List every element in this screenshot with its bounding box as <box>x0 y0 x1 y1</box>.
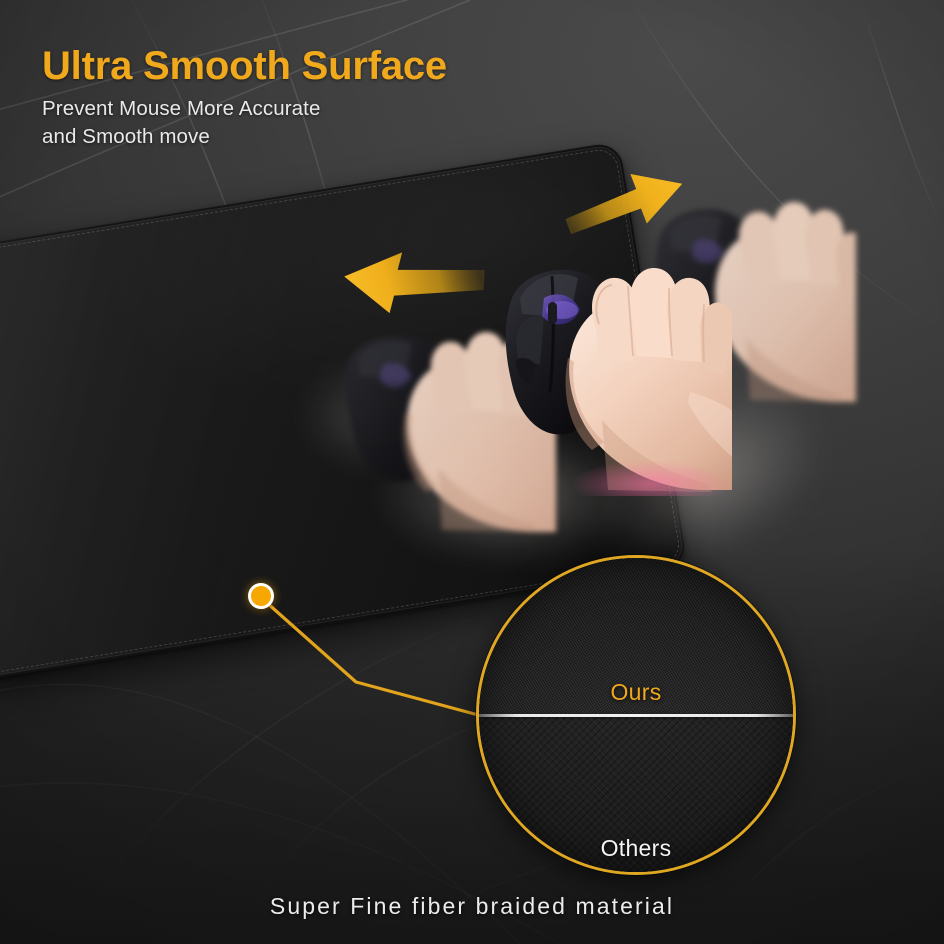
label-others: Others <box>479 835 793 862</box>
material-caption: Super Fine fiber braided material <box>0 893 944 920</box>
subtitle-line-2: and Smooth move <box>42 125 210 149</box>
page-title: Ultra Smooth Surface <box>42 44 447 89</box>
label-ours: Ours <box>479 679 793 706</box>
comparison-divider <box>479 714 793 717</box>
callout-dot-icon <box>248 583 274 609</box>
product-feature-image: Ultra Smooth Surface Prevent Mouse More … <box>0 0 944 944</box>
hand-on-mouse <box>500 252 732 496</box>
subtitle-line-1: Prevent Mouse More Accurate <box>42 97 320 121</box>
material-comparison-magnifier: Ours Others <box>476 555 796 875</box>
